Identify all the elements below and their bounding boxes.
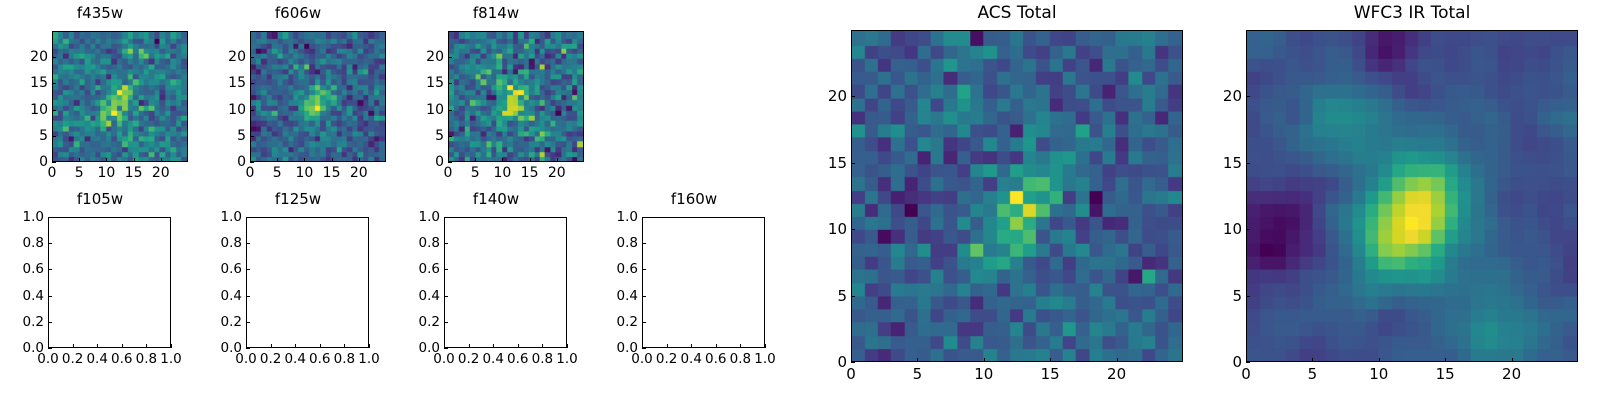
y-tick-label: 0 [825, 353, 847, 371]
y-tick-label: 20 [224, 49, 246, 65]
axes-f105w [48, 217, 171, 348]
y-tick-mark [642, 322, 646, 323]
x-tick-mark [295, 344, 296, 348]
y-tick-mark [246, 217, 250, 218]
y-tick-label: 10 [1220, 220, 1242, 238]
y-tick-mark [48, 269, 52, 270]
x-tick-label: 10 [295, 165, 313, 181]
y-tick-mark [52, 136, 56, 137]
x-tick-mark [1312, 358, 1313, 362]
heatmap-f814w [449, 32, 583, 161]
axes-acs-total [851, 30, 1183, 362]
y-tick-mark [1246, 163, 1250, 164]
x-tick-label: 0.6 [507, 351, 528, 367]
x-tick-label: 20 [548, 165, 566, 181]
x-tick-mark [134, 158, 135, 162]
y-tick-label: 1.0 [410, 209, 440, 225]
x-tick-mark [1050, 358, 1051, 362]
y-tick-mark [52, 57, 56, 58]
x-tick-label: 0.6 [309, 351, 330, 367]
x-tick-label: 1.0 [160, 351, 181, 367]
x-tick-mark [359, 158, 360, 162]
x-tick-mark [502, 158, 503, 162]
x-tick-mark [1117, 358, 1118, 362]
x-tick-mark [146, 344, 147, 348]
y-tick-label: 0.4 [212, 288, 242, 304]
y-tick-label: 0.6 [212, 261, 242, 277]
y-tick-mark [246, 243, 250, 244]
x-tick-label: 0.2 [62, 351, 83, 367]
figure-canvas: f435w 0510152005101520 f606w 05101520051… [0, 0, 1600, 400]
x-tick-mark [716, 344, 717, 348]
y-tick-mark [448, 57, 452, 58]
x-tick-mark [320, 344, 321, 348]
panel-title-f606w: f606w [198, 4, 398, 22]
x-tick-mark [369, 344, 370, 348]
y-tick-label: 15 [224, 75, 246, 91]
x-tick-mark [518, 344, 519, 348]
x-tick-label: 15 [521, 165, 539, 181]
y-tick-mark [851, 296, 855, 297]
x-tick-label: 10 [1369, 365, 1388, 383]
y-tick-mark [448, 110, 452, 111]
x-tick-label: 15 [1436, 365, 1455, 383]
y-tick-mark [851, 229, 855, 230]
x-tick-label: 0.4 [680, 351, 701, 367]
y-tick-mark [851, 96, 855, 97]
panel-title-f105w: f105w [0, 190, 200, 208]
x-tick-mark [917, 358, 918, 362]
y-tick-label: 5 [825, 287, 847, 305]
panel-title-f814w: f814w [396, 4, 596, 22]
x-tick-label: 0.4 [482, 351, 503, 367]
y-tick-mark [48, 348, 52, 349]
y-tick-label: 0.2 [14, 314, 44, 330]
x-tick-mark [1445, 358, 1446, 362]
y-tick-label: 0.2 [608, 314, 638, 330]
x-tick-label: 0.2 [656, 351, 677, 367]
y-tick-label: 1.0 [14, 209, 44, 225]
x-tick-mark [493, 344, 494, 348]
x-tick-mark [332, 158, 333, 162]
y-tick-label: 1.0 [608, 209, 638, 225]
y-tick-mark [642, 217, 646, 218]
panel-title-f435w: f435w [0, 4, 200, 22]
panel-wfc3-ir-total: WFC3 IR Total 0510152005101520 [1190, 0, 1600, 400]
y-tick-label: 1.0 [212, 209, 242, 225]
y-tick-label: 5 [26, 128, 48, 144]
heatmap-wfc3-ir-total [1247, 31, 1577, 361]
x-tick-mark [277, 158, 278, 162]
y-tick-mark [250, 136, 254, 137]
y-tick-mark [851, 362, 855, 363]
y-tick-label: 20 [422, 49, 444, 65]
x-tick-label: 15 [125, 165, 143, 181]
axes-f435w [52, 31, 188, 162]
panel-f606w: f606w 0510152005101520 [198, 0, 398, 190]
panel-f435w: f435w 0510152005101520 [0, 0, 200, 190]
x-tick-mark [161, 158, 162, 162]
x-tick-label: 5 [273, 165, 282, 181]
y-tick-label: 0.0 [608, 340, 638, 356]
axes-f814w [448, 31, 584, 162]
y-tick-label: 10 [422, 102, 444, 118]
y-tick-label: 10 [825, 220, 847, 238]
y-tick-mark [851, 163, 855, 164]
y-tick-mark [52, 83, 56, 84]
y-tick-label: 15 [26, 75, 48, 91]
y-tick-label: 0.6 [608, 261, 638, 277]
x-tick-mark [557, 158, 558, 162]
x-tick-mark [667, 344, 668, 348]
x-tick-label: 1.0 [358, 351, 379, 367]
x-tick-label: 15 [1041, 365, 1060, 383]
x-tick-label: 0.6 [111, 351, 132, 367]
y-tick-mark [444, 217, 448, 218]
y-tick-mark [444, 243, 448, 244]
y-tick-mark [1246, 96, 1250, 97]
y-tick-mark [246, 269, 250, 270]
y-tick-mark [250, 162, 254, 163]
y-tick-label: 0 [1220, 353, 1242, 371]
x-tick-label: 0 [444, 165, 453, 181]
x-tick-mark [344, 344, 345, 348]
y-tick-label: 0.8 [14, 235, 44, 251]
y-tick-mark [1246, 362, 1250, 363]
y-tick-label: 0.6 [14, 261, 44, 277]
axes-wfc3-ir-total [1246, 30, 1578, 362]
y-tick-mark [642, 269, 646, 270]
y-tick-label: 20 [825, 87, 847, 105]
y-tick-label: 0.0 [14, 340, 44, 356]
x-tick-mark [73, 344, 74, 348]
y-tick-label: 0.2 [410, 314, 440, 330]
y-tick-mark [448, 162, 452, 163]
x-tick-mark [1379, 358, 1380, 362]
x-tick-mark [691, 344, 692, 348]
x-tick-mark [530, 158, 531, 162]
y-tick-mark [250, 83, 254, 84]
axes-f140w [444, 217, 567, 348]
y-tick-mark [1246, 296, 1250, 297]
heatmap-f435w [53, 32, 187, 161]
x-tick-mark [567, 344, 568, 348]
y-tick-label: 0 [224, 154, 246, 170]
x-tick-label: 10 [974, 365, 993, 383]
x-tick-label: 20 [152, 165, 170, 181]
x-tick-mark [984, 358, 985, 362]
y-tick-label: 0 [422, 154, 444, 170]
y-tick-label: 15 [825, 154, 847, 172]
y-tick-mark [48, 217, 52, 218]
x-tick-mark [1512, 358, 1513, 362]
y-tick-label: 15 [1220, 154, 1242, 172]
panel-f814w: f814w 0510152005101520 [396, 0, 596, 190]
y-tick-mark [250, 110, 254, 111]
y-tick-label: 0.8 [410, 235, 440, 251]
panel-f125w: f125w 0.00.20.40.60.81.00.00.20.40.60.81… [198, 190, 398, 400]
y-tick-label: 5 [224, 128, 246, 144]
x-tick-label: 5 [75, 165, 84, 181]
x-tick-label: 0.8 [334, 351, 355, 367]
x-tick-label: 20 [350, 165, 368, 181]
x-tick-label: 0 [48, 165, 57, 181]
x-tick-label: 0.4 [86, 351, 107, 367]
x-tick-label: 20 [1502, 365, 1521, 383]
x-tick-mark [271, 344, 272, 348]
x-tick-label: 5 [471, 165, 480, 181]
y-tick-mark [1246, 229, 1250, 230]
x-tick-label: 5 [1308, 365, 1318, 383]
y-tick-label: 0.0 [212, 340, 242, 356]
panel-f160w: f160w 0.00.20.40.60.81.00.00.20.40.60.81… [594, 190, 794, 400]
panel-f140w: f140w 0.00.20.40.60.81.00.00.20.40.60.81… [396, 190, 596, 400]
x-tick-mark [79, 158, 80, 162]
y-tick-label: 0.4 [608, 288, 638, 304]
panel-title-f140w: f140w [396, 190, 596, 208]
x-tick-mark [97, 344, 98, 348]
heatmap-acs-total [852, 31, 1182, 361]
y-tick-label: 20 [26, 49, 48, 65]
x-tick-label: 0.8 [532, 351, 553, 367]
panel-title-acs-total: ACS Total [851, 3, 1183, 23]
y-tick-mark [448, 83, 452, 84]
y-tick-label: 5 [422, 128, 444, 144]
y-tick-mark [48, 296, 52, 297]
y-tick-mark [48, 243, 52, 244]
x-tick-mark [122, 344, 123, 348]
y-tick-mark [444, 269, 448, 270]
x-tick-label: 0 [1241, 365, 1251, 383]
x-tick-label: 0 [846, 365, 856, 383]
x-tick-label: 5 [913, 365, 923, 383]
y-tick-mark [52, 162, 56, 163]
y-tick-mark [246, 348, 250, 349]
x-tick-label: 0.8 [136, 351, 157, 367]
y-tick-mark [642, 243, 646, 244]
x-tick-mark [304, 158, 305, 162]
axes-f125w [246, 217, 369, 348]
x-tick-label: 0.6 [705, 351, 726, 367]
x-tick-label: 10 [97, 165, 115, 181]
y-tick-mark [444, 322, 448, 323]
x-tick-mark [475, 158, 476, 162]
heatmap-f606w [251, 32, 385, 161]
y-tick-label: 0.4 [14, 288, 44, 304]
x-tick-label: 1.0 [754, 351, 775, 367]
y-tick-label: 0.4 [410, 288, 440, 304]
y-tick-label: 0.0 [410, 340, 440, 356]
y-tick-label: 0 [26, 154, 48, 170]
panel-f105w: f105w 0.00.20.40.60.81.00.00.20.40.60.81… [0, 190, 200, 400]
y-tick-label: 5 [1220, 287, 1242, 305]
y-tick-label: 0.6 [410, 261, 440, 277]
x-tick-label: 10 [493, 165, 511, 181]
x-tick-label: 0 [246, 165, 255, 181]
x-tick-label: 0.2 [260, 351, 281, 367]
x-tick-label: 1.0 [556, 351, 577, 367]
x-tick-mark [765, 344, 766, 348]
panel-title-wfc3-ir-total: WFC3 IR Total [1246, 3, 1578, 23]
y-tick-mark [642, 296, 646, 297]
x-tick-mark [106, 158, 107, 162]
y-tick-mark [642, 348, 646, 349]
x-tick-label: 20 [1107, 365, 1126, 383]
x-tick-label: 0.8 [730, 351, 751, 367]
y-tick-mark [448, 136, 452, 137]
x-tick-mark [469, 344, 470, 348]
y-tick-mark [250, 57, 254, 58]
y-tick-mark [444, 296, 448, 297]
axes-f606w [250, 31, 386, 162]
axes-f160w [642, 217, 765, 348]
y-tick-mark [52, 110, 56, 111]
panel-acs-total: ACS Total 0510152005101520 [800, 0, 1200, 400]
x-tick-mark [171, 344, 172, 348]
y-tick-label: 0.8 [212, 235, 242, 251]
x-tick-label: 0.4 [284, 351, 305, 367]
y-tick-label: 15 [422, 75, 444, 91]
y-tick-mark [48, 322, 52, 323]
x-tick-mark [542, 344, 543, 348]
x-tick-label: 0.2 [458, 351, 479, 367]
panel-title-f160w: f160w [594, 190, 794, 208]
y-tick-mark [246, 322, 250, 323]
y-tick-mark [246, 296, 250, 297]
x-tick-label: 15 [323, 165, 341, 181]
y-tick-label: 0.2 [212, 314, 242, 330]
y-tick-label: 10 [26, 102, 48, 118]
y-tick-label: 0.8 [608, 235, 638, 251]
panel-title-f125w: f125w [198, 190, 398, 208]
y-tick-label: 10 [224, 102, 246, 118]
y-tick-label: 20 [1220, 87, 1242, 105]
x-tick-mark [740, 344, 741, 348]
y-tick-mark [444, 348, 448, 349]
